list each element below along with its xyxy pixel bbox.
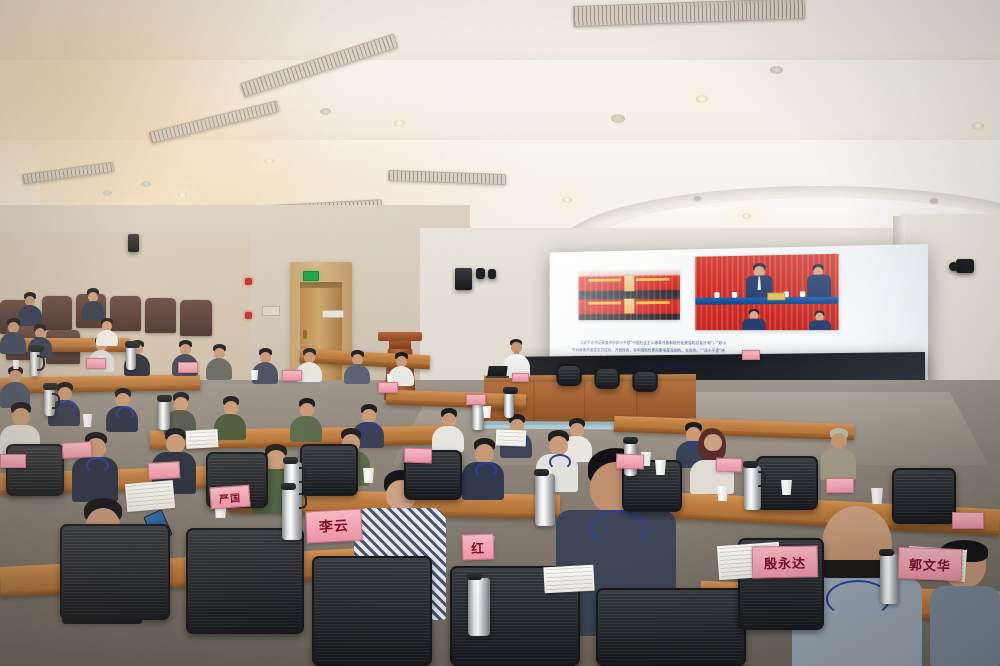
torso — [820, 448, 856, 480]
vacuum-flask[interactable] — [44, 388, 55, 416]
torso — [930, 586, 1000, 666]
torso — [344, 364, 370, 384]
audience-member — [96, 318, 118, 346]
head — [166, 434, 185, 453]
torso — [0, 332, 26, 354]
name-card — [62, 441, 93, 459]
ceiling-downlight-off — [611, 114, 625, 123]
head — [116, 393, 130, 407]
wall-camera-icon — [476, 268, 485, 279]
wall-notice — [322, 310, 344, 318]
flask-cap — [43, 383, 58, 390]
chair-mesh — [190, 533, 300, 629]
head — [58, 387, 72, 401]
torso — [290, 416, 322, 442]
wall-camera-icon — [949, 262, 958, 271]
head-table-seam — [534, 382, 535, 425]
handout-notes[interactable] — [496, 429, 527, 446]
chair-mesh — [316, 561, 428, 661]
mesh-chair[interactable] — [60, 524, 170, 620]
audience-member — [0, 318, 26, 354]
flask-cap — [125, 341, 140, 348]
chair-mesh — [64, 529, 166, 615]
mesh-chair[interactable] — [186, 528, 304, 634]
wall-speaker-icon — [128, 234, 139, 252]
chair-mesh — [896, 473, 952, 519]
flask-cap — [29, 345, 44, 352]
name-card: 红 — [462, 533, 495, 560]
mesh-chair[interactable] — [312, 556, 432, 666]
ceiling-downlight — [742, 213, 751, 219]
name-card — [178, 362, 198, 373]
vacuum-flask[interactable] — [468, 578, 490, 636]
flask-handle — [299, 493, 307, 509]
vacuum-flask[interactable] — [504, 392, 514, 418]
flask-cap — [879, 549, 894, 556]
flask-cap — [623, 437, 638, 444]
name-card — [282, 370, 302, 381]
chair-mesh — [560, 369, 578, 381]
torso — [432, 426, 464, 452]
fire-alarm-icon — [245, 278, 252, 285]
ceiling-downlight-off — [103, 190, 112, 196]
flask-cap — [743, 461, 758, 468]
ceiling-downlight-off — [141, 181, 151, 187]
chair-mesh — [598, 372, 616, 384]
mesh-chair[interactable] — [6, 444, 64, 496]
vacuum-flask[interactable] — [30, 350, 40, 376]
chair-mesh — [600, 593, 742, 661]
wall-speaker-icon — [455, 268, 472, 290]
theater-seat[interactable] — [180, 300, 212, 336]
audience-member — [432, 408, 464, 452]
audience-member — [462, 438, 504, 500]
lanyard — [475, 462, 497, 478]
handout-notes[interactable] — [186, 429, 219, 449]
flask-handle — [52, 393, 60, 409]
vacuum-flask[interactable] — [282, 488, 302, 540]
name-card — [616, 454, 645, 470]
ceiling-downlight — [264, 158, 274, 164]
laptop-base — [486, 376, 509, 378]
flask-cap — [503, 387, 518, 394]
flask-cap — [157, 395, 172, 402]
fire-alarm-icon — [245, 312, 252, 319]
name-card — [378, 382, 398, 393]
flask-cap — [467, 573, 482, 580]
stage-chair[interactable] — [594, 367, 619, 389]
vacuum-flask[interactable] — [744, 466, 761, 510]
presenter-laptop[interactable] — [486, 366, 508, 378]
audience-member — [290, 398, 322, 442]
ceiling-downlight-off — [770, 66, 783, 74]
mesh-chair[interactable] — [892, 468, 956, 524]
name-card — [0, 454, 26, 468]
power-outlet-plate — [262, 306, 280, 316]
stage-chair[interactable] — [556, 364, 581, 386]
smoke-detector-icon — [930, 198, 938, 203]
head — [475, 444, 494, 463]
lectern-neck — [389, 341, 411, 349]
handout-notes[interactable] — [543, 565, 594, 594]
audience-member — [344, 350, 370, 384]
audience-member — [820, 428, 856, 480]
lanyard — [58, 400, 76, 414]
name-card — [512, 373, 529, 382]
audience-member — [206, 344, 232, 380]
ceiling-downlight — [394, 120, 405, 127]
paper-lines — [498, 432, 524, 445]
head — [12, 408, 30, 426]
head — [174, 397, 188, 411]
smoke-detector-icon — [694, 196, 701, 200]
wall-camera-icon — [488, 269, 496, 279]
lanyard — [116, 406, 134, 420]
head — [224, 401, 238, 415]
door-handle[interactable] — [303, 330, 307, 339]
flask-cap — [534, 469, 549, 476]
lanyard — [590, 510, 646, 546]
vacuum-flask[interactable] — [535, 474, 555, 526]
chair-mesh — [304, 449, 354, 491]
head — [442, 413, 456, 427]
mesh-chair[interactable] — [300, 444, 358, 496]
lanyard — [86, 457, 109, 474]
name-card — [826, 478, 854, 493]
chair-mesh — [636, 375, 654, 387]
head — [704, 434, 722, 451]
handout-notes[interactable] — [125, 480, 175, 512]
flask-cap — [281, 483, 296, 490]
name-card — [148, 461, 181, 480]
paper-lines — [545, 567, 592, 591]
stage-chair[interactable] — [632, 370, 657, 392]
vacuum-flask[interactable] — [880, 554, 899, 604]
flask-cap — [283, 457, 298, 464]
torso — [214, 414, 246, 440]
audience-member — [106, 388, 138, 432]
head — [831, 433, 847, 449]
lecture-hall-photo: 习近平总书记高度评价邓小平是"中国社会主义改革开放和现代化建设的总设计师"。"邓… — [0, 0, 1000, 666]
vacuum-flask[interactable] — [126, 346, 136, 370]
flask-handle — [758, 471, 766, 487]
name-card: 严国 — [209, 485, 250, 510]
ceiling-downlight-off — [320, 108, 331, 115]
wall-camera-icon — [956, 259, 974, 273]
exit-sign-icon — [303, 271, 319, 281]
audience-member — [214, 396, 246, 440]
paper-lines — [188, 431, 217, 446]
name-card: 李云 — [305, 509, 363, 544]
name-card — [952, 512, 984, 529]
name-card — [466, 394, 486, 405]
head — [300, 403, 314, 417]
name-card: 殷永达 — [752, 545, 819, 578]
flask-handle — [299, 467, 307, 483]
theater-seat[interactable] — [145, 298, 176, 333]
ceiling-downlight — [696, 95, 708, 103]
name-card — [86, 358, 106, 369]
torso — [206, 358, 232, 380]
name-card — [716, 458, 742, 473]
ceiling-downlight — [178, 192, 187, 198]
torso — [96, 330, 118, 346]
lectern-top — [378, 332, 422, 341]
name-card — [404, 448, 433, 464]
ceiling-downlight — [972, 122, 984, 130]
mesh-chair[interactable] — [596, 588, 746, 666]
name-card: 郭文华 — [897, 547, 962, 581]
name-card — [742, 350, 760, 360]
head — [362, 409, 376, 423]
audience-member — [82, 288, 104, 320]
ceiling-downlight — [562, 197, 572, 203]
vacuum-flask[interactable] — [158, 400, 170, 430]
flask-handle — [37, 355, 45, 371]
paper-lines — [127, 482, 173, 510]
